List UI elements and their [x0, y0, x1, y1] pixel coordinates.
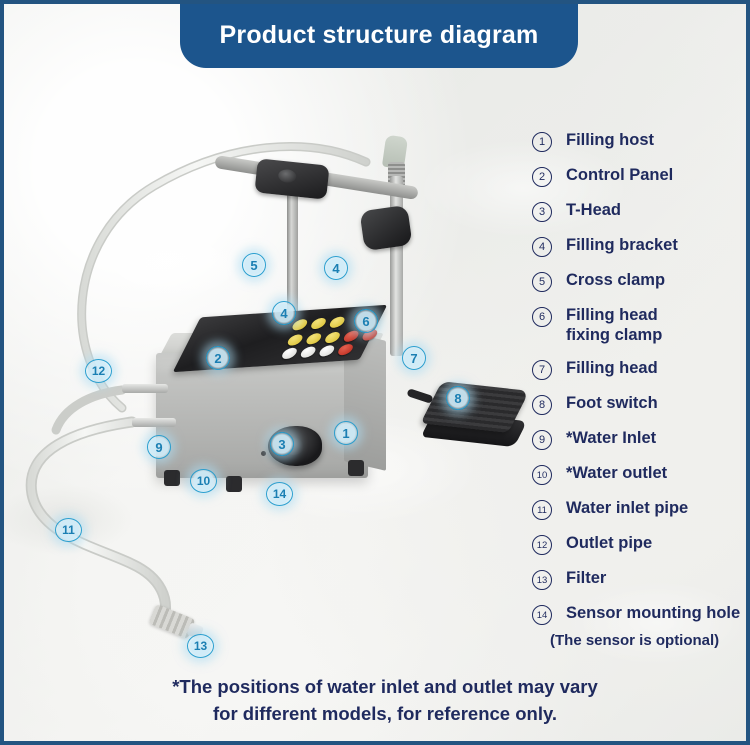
machine-body-front [156, 353, 368, 478]
legend-item-label: Filling host [566, 130, 654, 150]
legend-item-label: Cross clamp [566, 270, 665, 290]
legend-item: 7Filling head [532, 358, 747, 380]
product-structure-diagram-page: Product structure diagram [0, 0, 750, 745]
legend-item: 13Filter [532, 568, 747, 590]
callout-sensor-mounting-hole: 14 [266, 482, 293, 506]
machine-foot [226, 476, 242, 492]
legend-item-number: 8 [532, 395, 552, 415]
footer-disclaimer: *The positions of water inlet and outlet… [4, 673, 746, 727]
legend-item: 6Filling head fixing clamp [532, 305, 747, 345]
legend-item: 4Filling bracket [532, 235, 747, 257]
legend-item-number: 3 [532, 202, 552, 222]
callout-filling-bracket-arm: 4 [324, 256, 348, 280]
legend-item: 3T-Head [532, 200, 747, 222]
banner: Product structure diagram [180, 0, 578, 68]
legend-list: 1Filling host2Control Panel3T-Head4Filli… [532, 130, 747, 649]
legend-item-number: 11 [532, 500, 552, 520]
legend-note: (The sensor is optional) [550, 632, 747, 649]
machine-foot [164, 470, 180, 486]
foot-switch-pedal [419, 378, 529, 468]
panel-button-white[interactable] [317, 345, 336, 357]
water-outlet-port [132, 418, 176, 427]
legend-item-number: 6 [532, 307, 552, 327]
legend-item: 9*Water Inlet [532, 428, 747, 450]
legend-item-label: Filling bracket [566, 235, 678, 255]
legend-item-number: 13 [532, 570, 552, 590]
legend-item-label: T-Head [566, 200, 621, 220]
callout-water-outlet: 10 [190, 469, 217, 493]
legend-item-number: 2 [532, 167, 552, 187]
legend-item-label: Outlet pipe [566, 533, 652, 553]
filling-head-fixing-clamp [359, 205, 412, 251]
legend-item: 5Cross clamp [532, 270, 747, 292]
legend-item: 10*Water outlet [532, 463, 747, 485]
callout-water-inlet: 9 [147, 435, 171, 459]
panel-button-yellow[interactable] [323, 332, 342, 344]
callout-filling-bracket-post: 4 [272, 301, 296, 325]
callout-filling-head: 7 [402, 346, 426, 370]
legend-item: 11Water inlet pipe [532, 498, 747, 520]
machine-foot [348, 460, 364, 476]
legend-item: 12Outlet pipe [532, 533, 747, 555]
legend-item-label: Water inlet pipe [566, 498, 688, 518]
legend-item-label: *Water outlet [566, 463, 667, 483]
callout-foot-switch: 8 [446, 386, 470, 410]
legend-item-label: *Water Inlet [566, 428, 656, 448]
legend-item-label: Sensor mounting hole [566, 603, 740, 623]
callout-control-panel: 2 [206, 346, 230, 370]
callout-t-head: 3 [270, 432, 294, 456]
legend-item-number: 12 [532, 535, 552, 555]
legend-item-number: 14 [532, 605, 552, 625]
legend-item-number: 7 [532, 360, 552, 380]
legend-item-number: 10 [532, 465, 552, 485]
panel-button-yellow[interactable] [309, 318, 328, 330]
legend-item-number: 5 [532, 272, 552, 292]
legend-item: 14Sensor mounting hole [532, 603, 747, 625]
legend-item-number: 9 [532, 430, 552, 450]
water-inlet-port [122, 384, 168, 393]
legend-item-label: Filter [566, 568, 606, 588]
callout-filling-host: 1 [334, 421, 358, 445]
callout-filter: 13 [187, 634, 214, 658]
legend-item-label: Control Panel [566, 165, 673, 185]
panel-button-red[interactable] [342, 330, 361, 342]
page-title: Product structure diagram [220, 15, 539, 50]
legend-item-label: Filling head fixing clamp [566, 305, 662, 345]
legend-item-label: Foot switch [566, 393, 658, 413]
callout-filling-head-clamp: 6 [354, 309, 378, 333]
legend-item-number: 4 [532, 237, 552, 257]
legend-item: 2Control Panel [532, 165, 747, 187]
callout-water-inlet-pipe: 11 [55, 518, 82, 542]
filling-head-nozzle [390, 176, 403, 356]
legend-item: 8Foot switch [532, 393, 747, 415]
callout-outlet-pipe: 12 [85, 359, 112, 383]
legend-item: 1Filling host [532, 130, 747, 152]
legend-item-number: 1 [532, 132, 552, 152]
callout-cross-clamp: 5 [242, 253, 266, 277]
product-photo [4, 78, 524, 678]
sensor-mounting-hole [261, 451, 266, 456]
legend-item-label: Filling head [566, 358, 658, 378]
panel-button-yellow[interactable] [304, 333, 323, 345]
panel-button-white[interactable] [299, 346, 318, 358]
